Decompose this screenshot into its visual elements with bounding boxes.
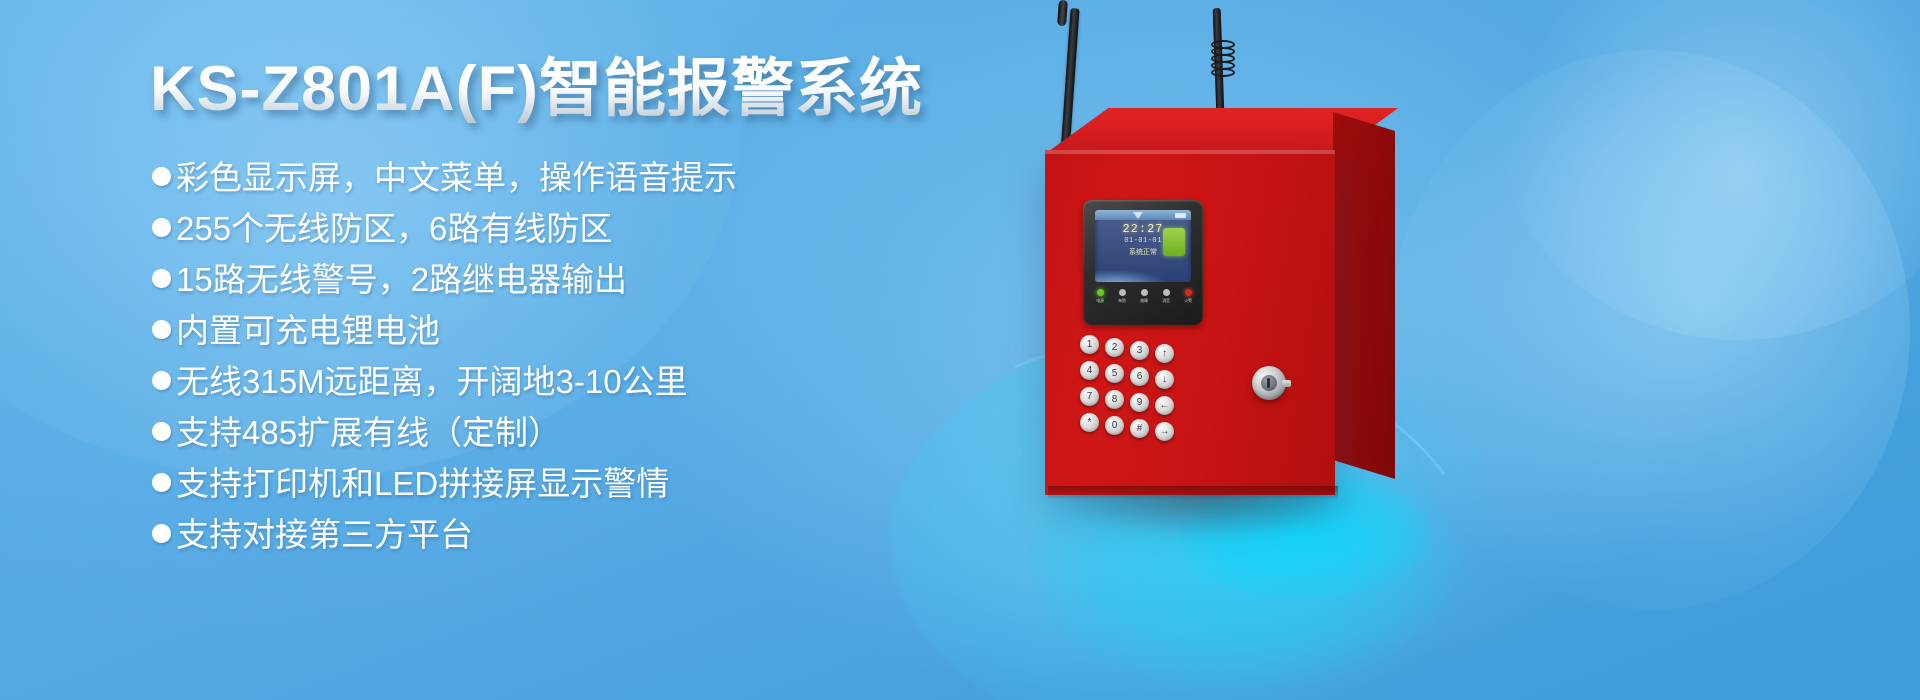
led-power-label: 电源: [1092, 298, 1108, 304]
key-8[interactable]: 8: [1105, 390, 1124, 409]
feature-text: 支持打印机和LED拼接屏显示警情: [176, 463, 669, 505]
key-9[interactable]: 9: [1130, 393, 1149, 412]
key-2[interactable]: 2: [1105, 338, 1124, 357]
led-mute-label: 消音: [1158, 298, 1174, 304]
bullet-dot-icon: [152, 218, 171, 237]
led-mute: [1163, 289, 1170, 296]
key-star[interactable]: *: [1080, 413, 1099, 432]
key-left[interactable]: ←: [1155, 396, 1174, 415]
led-fire: [1185, 289, 1192, 296]
led-fire-label: 火警: [1180, 298, 1196, 304]
key-6[interactable]: 6: [1130, 367, 1149, 386]
lock-keyhole: [1267, 378, 1270, 388]
key-down[interactable]: ↓: [1155, 370, 1174, 389]
bullet-dot-icon: [152, 422, 171, 441]
feature-text: 255个无线防区，6路有线防区: [176, 208, 612, 250]
key-up[interactable]: ↑: [1155, 344, 1174, 363]
key-0[interactable]: 0: [1105, 416, 1124, 435]
keypad[interactable]: 1 2 3 ↑ 4 5 6 ↓ 7 8 9 ← * 0 # →: [1080, 335, 1210, 447]
list-item: 支持打印机和LED拼接屏显示警情: [152, 463, 952, 510]
key-1[interactable]: 1: [1080, 335, 1099, 354]
lcd-status-bar: [1095, 210, 1191, 220]
antenna-coil-icon: [1211, 40, 1231, 80]
list-item: 无线315M远距离，开阔地3-10公里: [152, 361, 952, 408]
led-fault: [1141, 289, 1148, 296]
key-hash[interactable]: #: [1130, 419, 1149, 438]
bullet-dot-icon: [152, 320, 171, 339]
feature-text: 内置可充电锂电池: [176, 310, 440, 352]
lcd-screen: 22:27 01-01-01 系统正常: [1095, 210, 1191, 282]
list-item: 内置可充电锂电池: [152, 310, 952, 357]
feature-text: 彩色显示屏，中文菜单，操作语音提示: [176, 157, 737, 199]
led-power: [1097, 289, 1104, 296]
bullet-dot-icon: [152, 269, 171, 288]
key-right[interactable]: →: [1155, 422, 1174, 441]
page-title: KS-Z801A(F)智能报警系统: [150, 52, 923, 126]
key-4[interactable]: 4: [1080, 361, 1099, 380]
lcd-time: 22:27: [1095, 222, 1191, 236]
lcd-date: 01-01-01: [1095, 237, 1191, 245]
feature-text: 支持对接第三方平台: [176, 514, 473, 556]
list-item: 15路无线警号，2路继电器输出: [152, 259, 952, 306]
lcd-status-text: 系统正常: [1095, 247, 1191, 257]
lock-tab: [1282, 380, 1291, 387]
bullet-dot-icon: [152, 371, 171, 390]
led-indicator-row: 电源 布防 故障 消音 火警: [1095, 289, 1193, 299]
battery-icon: [1175, 213, 1186, 218]
list-item: 支持对接第三方平台: [152, 514, 952, 561]
key-3[interactable]: 3: [1130, 341, 1149, 360]
bullet-dot-icon: [152, 524, 171, 543]
lock-icon[interactable]: [1252, 366, 1286, 400]
key-7[interactable]: 7: [1080, 387, 1099, 406]
product-banner: KS-Z801A(F)智能报警系统 彩色显示屏，中文菜单，操作语音提示 255个…: [0, 0, 1920, 700]
antenna-left-tip-icon: [1057, 0, 1068, 26]
bullet-dot-icon: [152, 473, 171, 492]
feature-text: 15路无线警号，2路继电器输出: [176, 259, 627, 301]
enclosure-top-edge-highlight: [1045, 150, 1335, 154]
product-image-alarm-panel: 22:27 01-01-01 系统正常 电源 布防 故障 消音 火警 1 2: [940, 0, 1920, 700]
feature-text: 支持485扩展有线（定制）: [176, 412, 561, 454]
key-5[interactable]: 5: [1105, 364, 1124, 383]
feature-text: 无线315M远距离，开阔地3-10公里: [176, 361, 688, 403]
list-item: 支持485扩展有线（定制）: [152, 412, 952, 459]
lcd-wallpaper: [1095, 256, 1191, 282]
bullet-dot-icon: [152, 167, 171, 186]
led-arm: [1119, 289, 1126, 296]
enclosure-side-face: [1333, 112, 1395, 479]
led-arm-label: 布防: [1114, 298, 1130, 304]
feature-list: 彩色显示屏，中文菜单，操作语音提示 255个无线防区，6路有线防区 15路无线警…: [152, 157, 952, 565]
list-item: 255个无线防区，6路有线防区: [152, 208, 952, 255]
list-item: 彩色显示屏，中文菜单，操作语音提示: [152, 157, 952, 204]
led-fault-label: 故障: [1136, 298, 1152, 304]
device-ground-reflection: [1058, 492, 1358, 540]
control-bezel: 22:27 01-01-01 系统正常 电源 布防 故障 消音 火警: [1083, 200, 1203, 325]
signal-icon: [1133, 212, 1143, 219]
